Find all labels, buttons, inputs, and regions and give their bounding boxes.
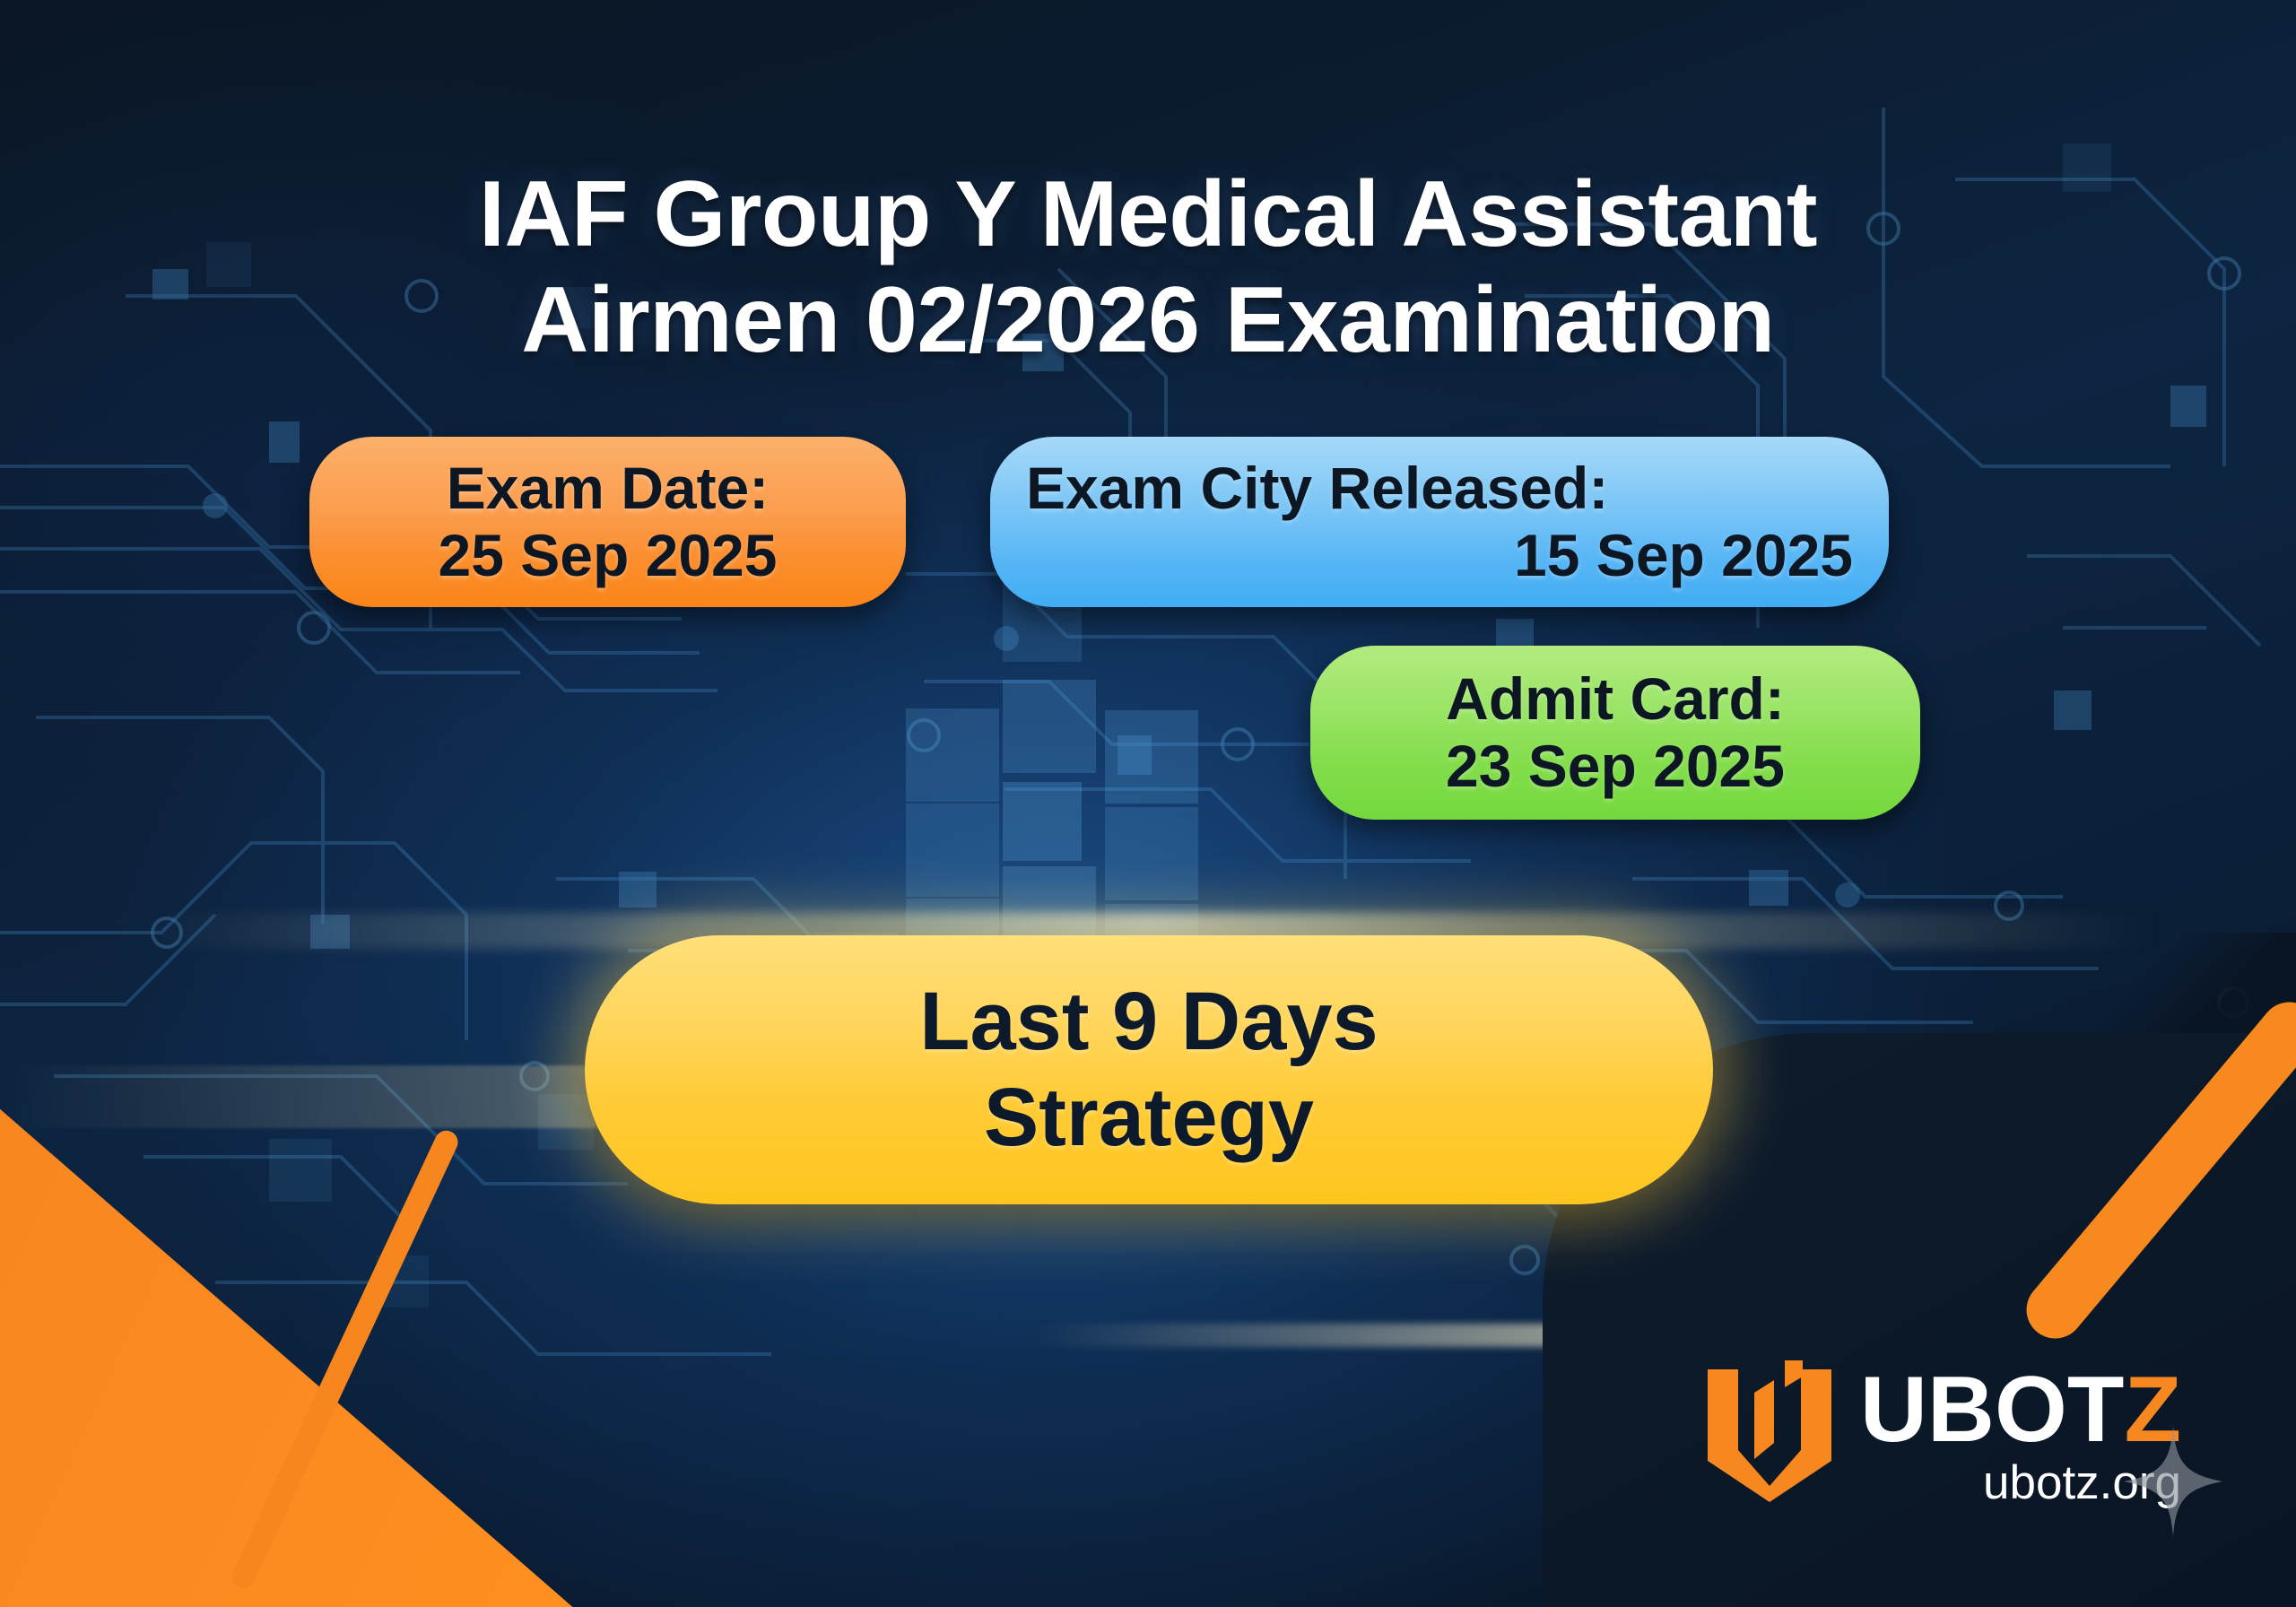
brand-wordmark-block: UBOTZ ubotz.org — [1860, 1360, 2181, 1507]
poster-canvas: IAF Group Y Medical Assistant Airmen 02/… — [0, 0, 2296, 1607]
badge-exam-date-value: 25 Sep 2025 — [349, 522, 866, 589]
cta-line-2: Strategy — [585, 1070, 1713, 1166]
ubotz-shield-icon — [1702, 1360, 1837, 1502]
badge-admit-card-value: 23 Sep 2025 — [1352, 733, 1879, 800]
brand-logo-lockup[interactable]: UBOTZ ubotz.org — [1702, 1360, 2181, 1507]
brand-wordmark-prefix: UBOT — [1860, 1358, 2125, 1462]
badge-admit-card-label: Admit Card: — [1352, 665, 1879, 733]
badge-exam-date[interactable]: Exam Date: 25 Sep 2025 — [309, 437, 906, 607]
badge-exam-date-label: Exam Date: — [349, 455, 866, 522]
page-title: IAF Group Y Medical Assistant Airmen 02/… — [0, 161, 2296, 374]
badge-exam-city-value: 15 Sep 2025 — [1026, 522, 1853, 589]
badge-exam-city-released[interactable]: Exam City Released: 15 Sep 2025 — [990, 437, 1889, 607]
sparkle-star-icon — [2124, 1426, 2222, 1537]
cta-last-days-strategy[interactable]: Last 9 Days Strategy — [585, 935, 1713, 1204]
badge-exam-city-label: Exam City Released: — [1026, 455, 1853, 522]
title-line-1: IAF Group Y Medical Assistant — [479, 162, 1817, 266]
cta-line-1: Last 9 Days — [585, 974, 1713, 1070]
badge-admit-card[interactable]: Admit Card: 23 Sep 2025 — [1310, 646, 1920, 820]
title-line-2: Airmen 02/2026 Examination — [0, 267, 2296, 374]
